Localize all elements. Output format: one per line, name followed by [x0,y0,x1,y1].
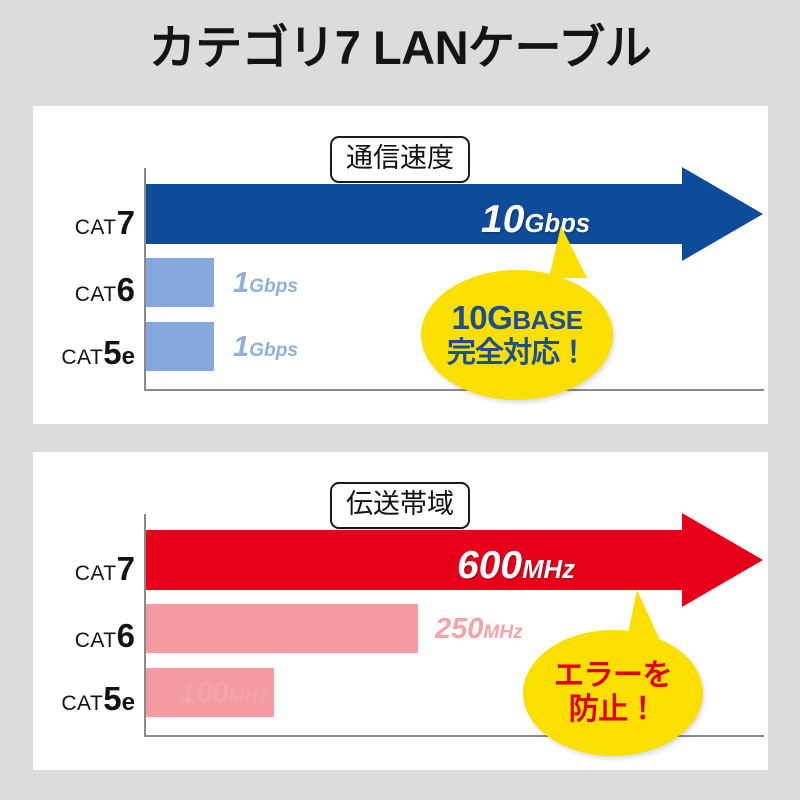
category-suffix: e [122,689,135,716]
bubble-line-1: エラーを [554,659,672,693]
value-unit: Gbps [249,276,298,297]
category-number: 6 [117,617,135,654]
bar-shaft [146,184,682,244]
category-number: 5 [103,334,121,371]
category-prefix: CAT [61,692,103,715]
value-unit: MHz [483,622,522,643]
bubble-line-1: 10GBASE [451,300,582,337]
bubble-line-1-main: 10G [451,299,512,336]
value-number: 10 [481,198,524,241]
section-badge-transmission-bandwidth: 伝送帯域 [330,482,470,529]
value-label-cat5e-bandwidth: 100MHz [180,679,268,708]
category-label-cat5e: CAT5e [61,682,135,715]
value-number: 250 [435,613,483,645]
arrow-head-icon [682,167,763,261]
bubble-tail-icon [549,226,587,278]
category-label-cat6: CAT6 [75,619,135,652]
value-label-cat6-speed: 1Gbps [233,269,298,298]
bar-cat5e-speed [146,322,214,371]
value-label-cat7-bandwidth: 600MHz [457,546,575,585]
panel-communication-speed: CAT7 CAT6 CAT5e 10Gbps 1Gbps 1Gbps 10GBA… [33,106,768,424]
category-prefix: CAT [75,562,117,585]
category-prefix: CAT [75,283,117,306]
category-prefix: CAT [75,216,117,239]
category-prefix: CAT [61,346,103,369]
value-unit: Gbps [249,340,298,361]
bubble-line-1-small: BASE [512,305,582,335]
value-number: 1 [233,267,249,299]
bubble-tail-icon [627,590,659,638]
value-label-cat6-bandwidth: 250MHz [435,615,523,644]
category-number: 7 [117,550,135,587]
value-unit: MHz [228,686,267,707]
bubble-line-2: 防止！ [569,693,658,727]
category-label-cat7: CAT7 [75,552,135,585]
callout-bubble-10gbase: 10GBASE 完全対応！ [421,270,613,400]
category-number: 6 [117,271,135,308]
arrow-head-icon [682,513,763,607]
value-label-cat5e-speed: 1Gbps [233,333,298,362]
category-number: 5 [103,680,121,717]
value-number: 600 [457,544,522,587]
value-number: 100 [180,677,228,709]
bar-cat6-bandwidth [146,604,418,653]
category-label-cat5e: CAT5e [61,336,135,369]
category-label-cat6: CAT6 [75,273,135,306]
section-badge-communication-speed: 通信速度 [330,136,470,183]
chart-axis-baseline [144,389,764,391]
callout-bubble-error-prevention: エラーを 防止！ [523,630,703,756]
value-number: 1 [233,331,249,363]
category-suffix: e [122,343,135,370]
page-title: カテゴリ7 LANケーブル [0,22,800,74]
category-prefix: CAT [75,629,117,652]
category-number: 7 [117,204,135,241]
bar-cat6-speed [146,258,214,307]
panel-transmission-bandwidth: CAT7 CAT6 CAT5e 600MHz 250MHz 100MHz エラー… [33,452,768,770]
bubble-line-2: 完全対応！ [447,337,587,369]
bar-shaft [146,530,682,590]
category-label-cat7: CAT7 [75,206,135,239]
value-unit: MHz [522,556,575,584]
